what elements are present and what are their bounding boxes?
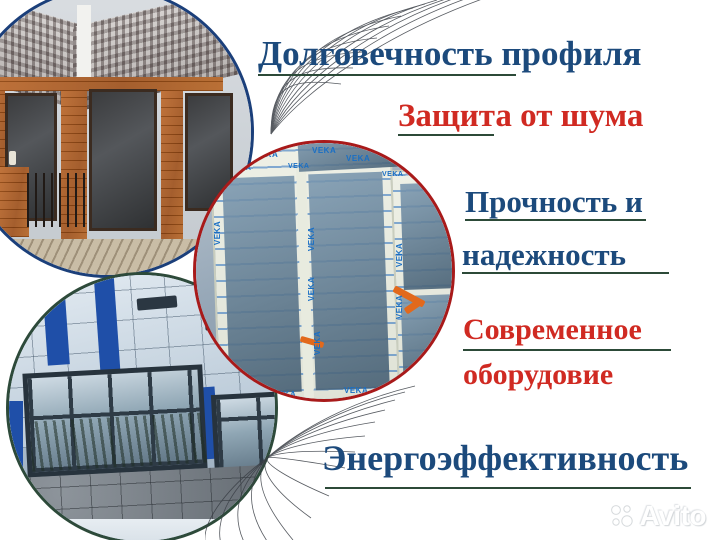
avito-watermark: Avito xyxy=(608,500,706,532)
veka-logo-text: VEKA xyxy=(308,227,316,251)
headline-noise: Защита от шума xyxy=(398,100,643,133)
veka-logo-text: VEKA xyxy=(308,277,316,301)
headline-equipment: оборудовие xyxy=(463,360,613,390)
wall-lamp-icon xyxy=(9,151,16,165)
veka-logo-text: VEKA xyxy=(314,331,322,355)
window-glass-main-right xyxy=(308,172,389,390)
headline-energy: Энергоэффективность xyxy=(322,440,688,476)
wood-post-right xyxy=(161,85,183,243)
veka-logo-text: VEKA xyxy=(382,171,403,178)
headline-modern-rule xyxy=(463,349,671,351)
roof-ridge xyxy=(77,5,91,77)
headline-modern: Современное xyxy=(463,315,642,345)
veka-logo-text: VEKA xyxy=(396,295,404,319)
advertisement-poster: VEKA VEKA VEKA VEKA VEKA VEKA VEKA VEKA … xyxy=(0,0,720,540)
headline-energy-rule xyxy=(325,487,691,489)
balcony-railing xyxy=(27,173,87,227)
avito-watermark-label: Avito xyxy=(640,500,706,532)
veka-logo-text: VEKA xyxy=(254,151,278,159)
veka-logo-text: VEKA xyxy=(288,163,309,170)
veka-logo-text: VEKA xyxy=(346,155,370,163)
veka-logo-text: VEKA xyxy=(344,387,368,395)
balcony-pillar xyxy=(0,167,29,237)
veka-logo-text: VEKA xyxy=(312,147,336,155)
headline-durability: Долговечность профиля xyxy=(258,36,641,71)
veka-logo-text: VEKA xyxy=(230,165,251,172)
headline-reliability: надежность xyxy=(462,239,626,270)
headline-durability-rule xyxy=(258,74,516,76)
headline-reliability-rule xyxy=(462,272,669,274)
veka-logo-text: VEKA xyxy=(396,243,404,267)
headline-strength-rule xyxy=(465,219,646,221)
facade-blue-accent-4 xyxy=(9,401,23,475)
facade-snow-ground xyxy=(9,519,275,540)
photo-pvc-windows: VEKA VEKA VEKA VEKA VEKA VEKA VEKA VEKA … xyxy=(193,140,455,402)
photo-pvc-windows-image: VEKA VEKA VEKA VEKA VEKA VEKA VEKA VEKA … xyxy=(196,143,452,399)
window-glass-main-left xyxy=(222,176,301,394)
headline-noise-rule xyxy=(398,134,494,136)
headline-strength: Прочность и xyxy=(465,186,643,217)
window-pane-center xyxy=(89,89,157,231)
fan-lines-top-decoration xyxy=(235,0,525,164)
facade-tree-reflection xyxy=(30,412,208,471)
veka-logo-text: VEKA xyxy=(272,391,296,399)
avito-dots-icon xyxy=(608,502,636,530)
veka-logo-text: VEKA xyxy=(214,221,222,245)
window-glass-secondary xyxy=(400,182,452,290)
